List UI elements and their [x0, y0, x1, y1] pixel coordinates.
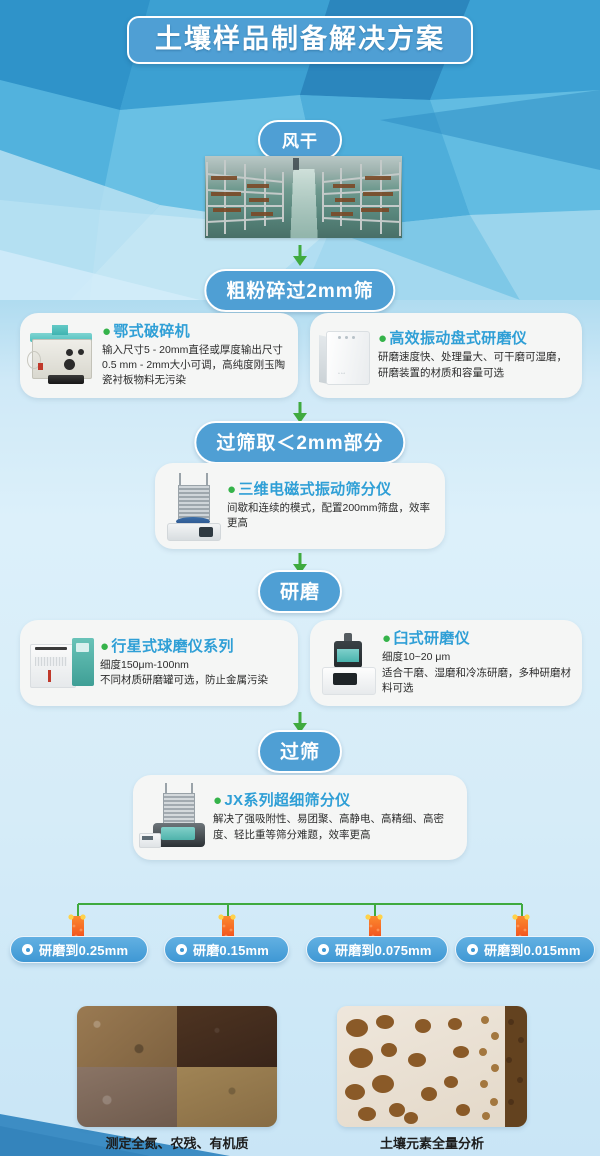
soil-quadrant-2	[177, 1006, 277, 1067]
jaw-crusher-illustration	[26, 323, 102, 389]
card-title-vibrating-disc-mill: ●高效振动盘式研磨仪	[378, 330, 574, 347]
card-desc-jaw-crusher: 输入尺寸5 - 20mm直径或厚度输出尺寸0.5 mm - 2mm大小可调，高纯…	[102, 343, 290, 389]
card-electromagnetic-sieve-shaker[interactable]: ●三维电磁式振动筛分仪 间歇和连续的模式，配置200mm筛盘，效率更高	[155, 463, 445, 549]
card-planetary-ball-mill[interactable]: ●行星式球磨仪系列 细度150μm-100nm 不同材质研磨罐可选，防止金属污染	[20, 620, 298, 706]
jx-ultrafine-sieve-thumb	[133, 783, 213, 853]
card-desc-vibrating-disc-mill: 研磨速度快、处理量大、可干磨可湿磨，研磨装置的材质和容量可选	[378, 350, 574, 380]
result-dot-icon	[22, 944, 33, 955]
jx-ultrafine-sieve-illustration	[137, 783, 213, 853]
result-label-2: 研磨到0.075mm	[335, 940, 432, 959]
infographic-poster: 土壤样品制备解决方案 风干	[0, 0, 600, 1156]
card-title-jaw-crusher: ●鄂式破碎机	[102, 323, 290, 340]
bullet-icon: ●	[100, 638, 109, 655]
page-title-text: 土壤样品制备解决方案	[155, 25, 445, 53]
outcome-caption-1: 土壤元素全量分析	[337, 1133, 527, 1152]
card-mortar-grinder[interactable]: ●臼式研磨仪 细度10~20 μm 适合干磨、湿磨和冷冻研磨，多种研磨材料可选	[310, 620, 582, 706]
photo-soil-texture-grid	[77, 1006, 277, 1127]
card-desc-planetary-ball-mill: 细度150μm-100nm 不同材质研磨罐可选，防止金属污染	[100, 658, 290, 688]
bullet-icon: ●	[227, 481, 236, 498]
result-pill-1[interactable]: 研磨0.15mm	[164, 936, 289, 963]
soil-quadrant-3	[77, 1067, 177, 1128]
bullet-icon: ●	[102, 323, 111, 340]
result-dot-icon	[467, 944, 478, 955]
card-vibrating-disc-mill[interactable]: ▫▫▫ ●高效振动盘式研磨仪 研磨速度快、处理量大、可干磨可湿磨，研磨装置的材质…	[310, 313, 582, 398]
vibrating-disc-mill-thumb: ▫▫▫	[310, 323, 378, 389]
planetary-ball-mill-thumb	[20, 630, 100, 696]
card-title-sieve-shaker: ●三维电磁式振动筛分仪	[227, 481, 437, 498]
mortar-grinder-thumb	[310, 629, 382, 697]
jaw-crusher-body: ●鄂式破碎机 输入尺寸5 - 20mm直径或厚度输出尺寸0.5 mm - 2mm…	[102, 323, 298, 389]
sieve-shaker-illustration	[161, 471, 227, 541]
flow-arrow-down-1	[292, 245, 308, 267]
soil-quadrant-1	[77, 1006, 177, 1067]
jaw-crusher-thumb	[20, 323, 102, 389]
photo-air-drying-racks	[205, 156, 402, 238]
page-title: 土壤样品制备解决方案	[127, 16, 473, 64]
card-jaw-crusher[interactable]: ●鄂式破碎机 输入尺寸5 - 20mm直径或厚度输出尺寸0.5 mm - 2mm…	[20, 313, 298, 398]
jx-ultrafine-sieve-body: ●JX系列超细筛分仪 解决了强吸附性、易团聚、高静电、高精细、高密度、轻比重等筛…	[213, 792, 467, 843]
vibrating-disc-mill-illustration: ▫▫▫	[316, 323, 378, 389]
card-title-planetary-ball-mill: ●行星式球磨仪系列	[100, 638, 290, 655]
card-desc-jx-ultrafine-sieve: 解决了强吸附性、易团聚、高静电、高精细、高密度、轻比重等筛分难题，效率更高	[213, 812, 459, 842]
granule-shapes	[337, 1006, 527, 1127]
mortar-grinder-body: ●臼式研磨仪 细度10~20 μm 适合干磨、湿磨和冷冻研磨，多种研磨材料可选	[382, 630, 582, 696]
step-sieve-under-2mm[interactable]: 过筛取＜2mm部分	[194, 421, 405, 464]
bullet-icon: ●	[378, 330, 387, 347]
outcome-caption-0: 测定全氮、农残、有机质	[77, 1133, 277, 1152]
rack-shelves-drawing	[205, 156, 402, 238]
result-label-0: 研磨到0.25mm	[39, 940, 128, 959]
bullet-icon: ●	[382, 630, 391, 647]
step-sieve[interactable]: 过筛	[258, 730, 342, 773]
step-coarse-crush[interactable]: 粗粉碎过2mm筛	[204, 269, 395, 312]
planetary-ball-mill-illustration	[26, 630, 100, 696]
planetary-ball-mill-body: ●行星式球磨仪系列 细度150μm-100nm 不同材质研磨罐可选，防止金属污染	[100, 638, 298, 689]
result-pill-3[interactable]: 研磨到0.015mm	[455, 936, 595, 963]
step-grind[interactable]: 研磨	[258, 570, 342, 613]
bullet-icon: ●	[213, 792, 222, 809]
soil-quadrant-4	[177, 1067, 277, 1128]
card-desc-sieve-shaker: 间歇和连续的模式，配置200mm筛盘，效率更高	[227, 501, 437, 531]
sieve-shaker-body: ●三维电磁式振动筛分仪 间歇和连续的模式，配置200mm筛盘，效率更高	[227, 481, 445, 532]
result-label-3: 研磨到0.015mm	[484, 940, 581, 959]
card-jx-ultrafine-sieve[interactable]: ●JX系列超细筛分仪 解决了强吸附性、易团聚、高静电、高精细、高密度、轻比重等筛…	[133, 775, 467, 860]
result-label-1: 研磨0.15mm	[193, 940, 269, 959]
card-desc-mortar-grinder: 细度10~20 μm 适合干磨、湿磨和冷冻研磨，多种研磨材料可选	[382, 650, 574, 696]
result-pill-0[interactable]: 研磨到0.25mm	[10, 936, 148, 963]
step-air-dry[interactable]: 风干	[258, 120, 342, 160]
mortar-grinder-illustration	[316, 629, 382, 697]
result-pill-2[interactable]: 研磨到0.075mm	[306, 936, 448, 963]
page-title-box: 土壤样品制备解决方案	[127, 16, 473, 64]
vibrating-disc-mill-body: ●高效振动盘式研磨仪 研磨速度快、处理量大、可干磨可湿磨，研磨装置的材质和容量可…	[378, 330, 582, 381]
card-title-mortar-grinder: ●臼式研磨仪	[382, 630, 574, 647]
card-title-jx-ultrafine-sieve: ●JX系列超细筛分仪	[213, 792, 459, 809]
result-dot-icon	[176, 944, 187, 955]
result-dot-icon	[318, 944, 329, 955]
photo-soil-granules	[337, 1006, 527, 1127]
sieve-shaker-thumb	[155, 471, 227, 541]
